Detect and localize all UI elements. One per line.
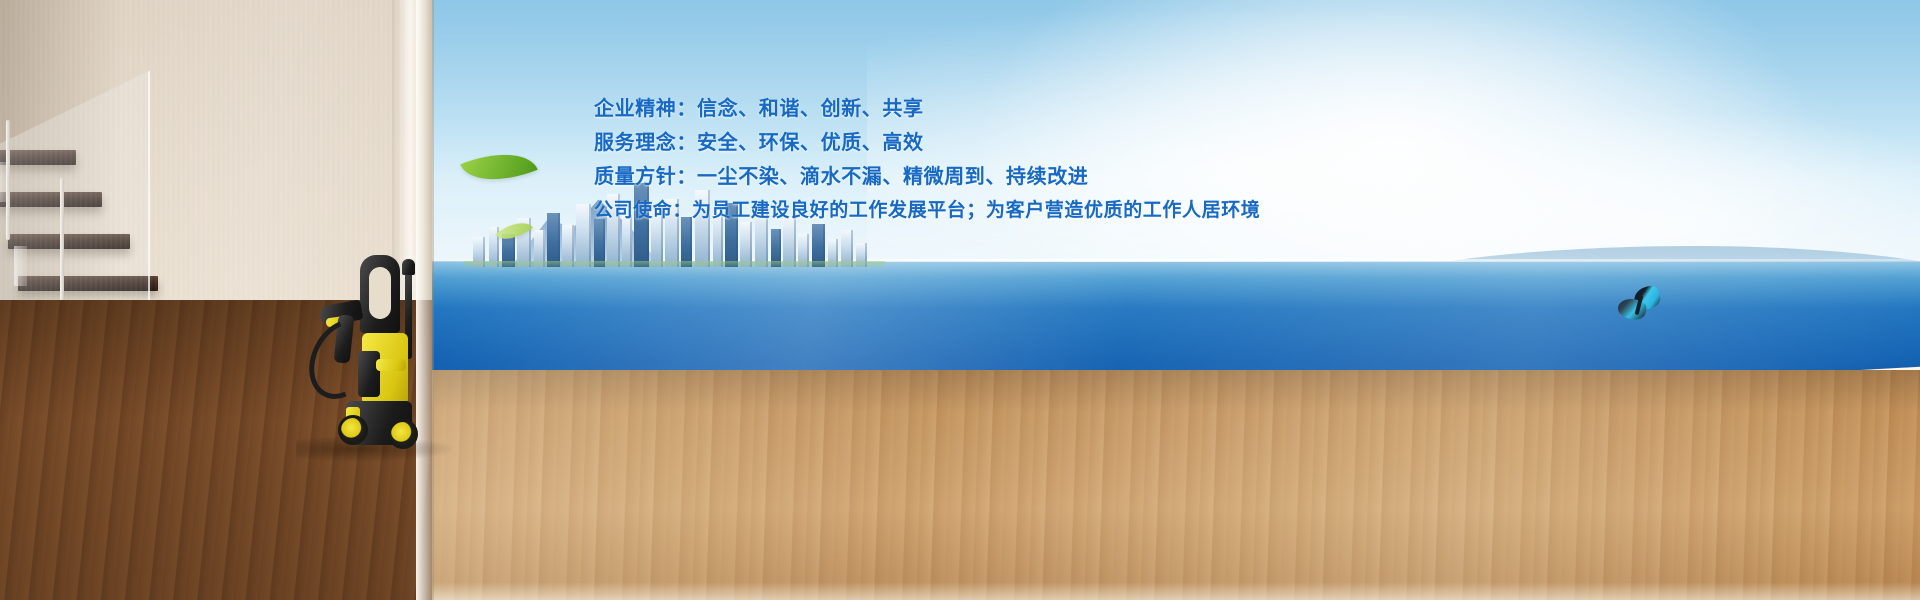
washer-handle-hole [369, 267, 391, 319]
blue-butterfly [1616, 285, 1662, 325]
washer-lance-tip [402, 259, 415, 275]
washer-body-stripe [376, 359, 406, 371]
railing-post [6, 120, 10, 240]
culture-text-block: 企业精神：信念、和谐、创新、共享 服务理念：安全、环保、优质、高效 质量方针：一… [594, 92, 1354, 228]
culture-line-mission: 公司使命：为员工建设良好的工作发展平台；为客户营造优质的工作人居环境 [594, 194, 1354, 228]
culture-line-quality: 质量方针：一尘不染、滴水不漏、精微周到、持续改进 [594, 160, 1354, 194]
culture-line-spirit: 企业精神：信念、和谐、创新、共享 [594, 92, 1354, 126]
yellow-pressure-washer[interactable] [312, 255, 424, 460]
culture-line-service: 服务理念：安全、环保、优质、高效 [594, 126, 1354, 160]
city-greenbelt [464, 261, 885, 269]
washer-body-panel [358, 351, 380, 397]
washer-wheel-right [388, 419, 418, 449]
banner-stage: 企业精神：信念、和谐、创新、共享 服务理念：安全、环保、优质、高效 质量方针：一… [0, 0, 1920, 600]
washer-wheel-left [338, 415, 368, 445]
